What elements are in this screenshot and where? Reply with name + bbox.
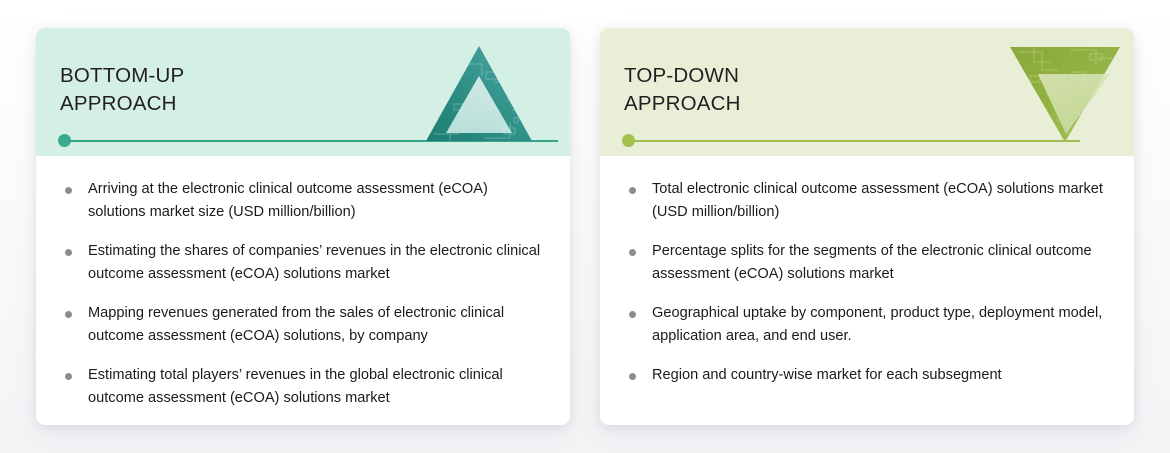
bottom-up-card-body: Arriving at the electronic clinical outc… [36, 156, 570, 409]
top-down-bullet-list: Total electronic clinical outcome assess… [626, 178, 1108, 387]
top-down-approach-card: TOP-DOWN APPROACH [600, 28, 1134, 425]
page-root: BOTTOM-UP APPROACH [0, 0, 1170, 453]
triangle-down-icon [1006, 42, 1124, 148]
triangle-up-icon [424, 42, 534, 146]
top-down-card-body: Total electronic clinical outcome assess… [600, 156, 1134, 387]
list-item: Estimating the shares of companies’ reve… [62, 240, 544, 285]
bottom-up-accent-dot [58, 134, 71, 147]
top-down-card-title: TOP-DOWN APPROACH [624, 62, 741, 118]
list-item: Region and country-wise market for each … [626, 364, 1108, 387]
top-down-accent-dot [622, 134, 635, 147]
bottom-up-approach-card: BOTTOM-UP APPROACH [36, 28, 570, 425]
list-item: Estimating total players’ revenues in th… [62, 364, 544, 409]
top-down-card-header: TOP-DOWN APPROACH [600, 28, 1134, 156]
bottom-up-card-header: BOTTOM-UP APPROACH [36, 28, 570, 156]
list-item: Total electronic clinical outcome assess… [626, 178, 1108, 223]
list-item: Arriving at the electronic clinical outc… [62, 178, 544, 223]
bottom-up-bullet-list: Arriving at the electronic clinical outc… [62, 178, 544, 409]
list-item: Geographical uptake by component, produc… [626, 302, 1108, 347]
list-item: Mapping revenues generated from the sale… [62, 302, 544, 347]
bottom-up-card-title: BOTTOM-UP APPROACH [60, 62, 184, 118]
list-item: Percentage splits for the segments of th… [626, 240, 1108, 285]
approach-cards-container: BOTTOM-UP APPROACH [0, 0, 1170, 453]
